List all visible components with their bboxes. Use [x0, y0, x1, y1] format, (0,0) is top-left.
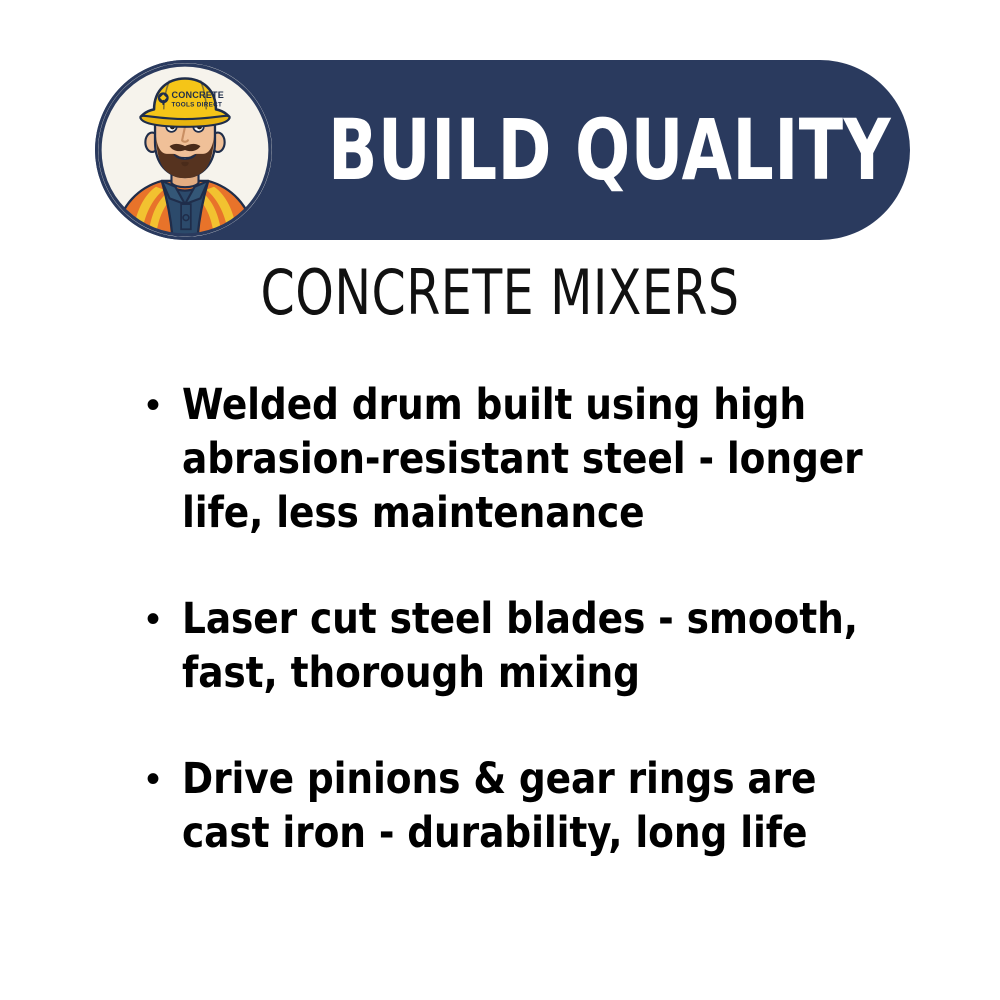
list-item: • Drive pinions & gear rings are cast ir… [140, 752, 900, 860]
bullet-icon: • [140, 592, 182, 646]
avatar: CONCRETE TOOLS DIRECT [95, 60, 275, 240]
page-title: BUILD QUALITY [382, 60, 837, 240]
list-item-text: Laser cut steel blades - smooth, fast, t… [182, 592, 878, 700]
list-item-text: Welded drum built using high abrasion-re… [182, 378, 878, 540]
bullet-icon: • [140, 752, 182, 806]
bullet-icon: • [140, 378, 182, 432]
feature-list: • Welded drum built using high abrasion-… [140, 378, 900, 860]
hat-brand-line-2: TOOLS DIRECT [171, 102, 222, 109]
list-item-text: Drive pinions & gear rings are cast iron… [182, 752, 878, 860]
hat-brand-line-1: CONCRETE [171, 90, 224, 100]
list-item: • Welded drum built using high abrasion-… [140, 378, 900, 540]
page-subtitle: CONCRETE MIXERS [60, 262, 940, 324]
build-quality-card: BUILD QUALITY [0, 0, 1000, 1000]
list-item: • Laser cut steel blades - smooth, fast,… [140, 592, 900, 700]
